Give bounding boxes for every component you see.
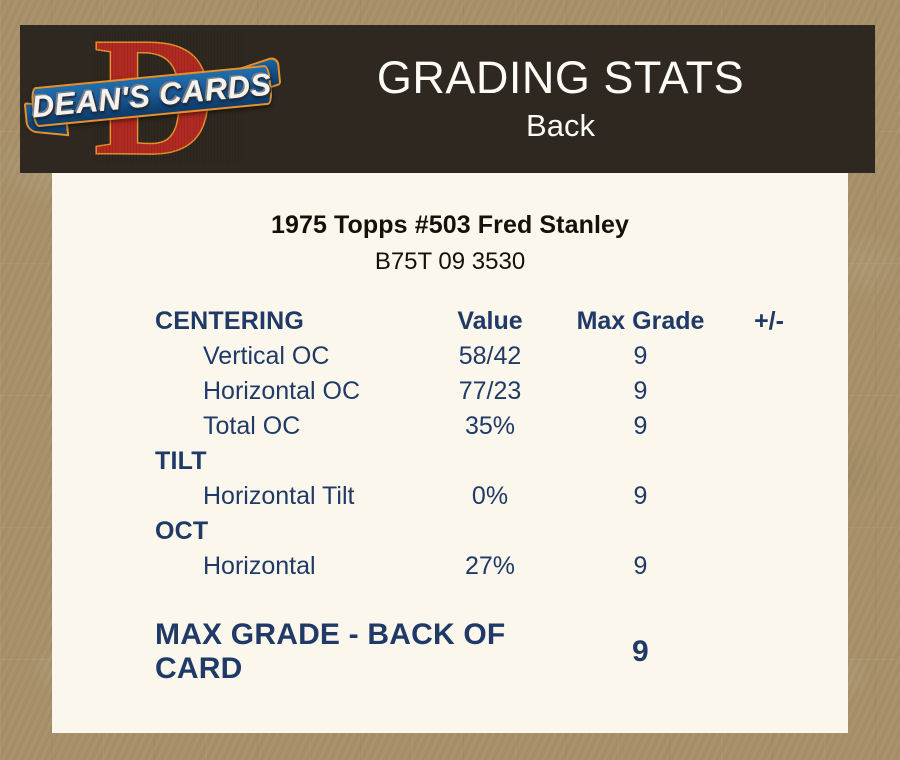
row-max-grade: 9 bbox=[553, 479, 728, 514]
max-grade-row: MAX GRADE - BACK OF CARD 9 bbox=[155, 618, 810, 686]
table-header-row: CENTERING Value Max Grade +/- bbox=[155, 304, 810, 339]
row-value: 0% bbox=[427, 479, 553, 514]
column-header-max-grade: Max Grade bbox=[553, 304, 728, 339]
row-label: Vertical OC bbox=[155, 339, 427, 374]
deans-cards-logo: D DEAN'S CARDS bbox=[20, 25, 282, 173]
table-row: Total OC 35% 9 bbox=[155, 409, 810, 444]
row-max-grade: 9 bbox=[553, 374, 728, 409]
row-delta bbox=[728, 374, 810, 409]
header-bar: D DEAN'S CARDS GRADING STATS Back bbox=[20, 25, 875, 173]
row-max-grade: 9 bbox=[553, 339, 728, 374]
page-subtitle: Back bbox=[282, 106, 839, 146]
row-value: 58/42 bbox=[427, 339, 553, 374]
row-label: Horizontal Tilt bbox=[155, 479, 427, 514]
page-title: GRADING STATS bbox=[282, 52, 839, 104]
row-delta bbox=[728, 479, 810, 514]
column-header-centering: CENTERING bbox=[155, 304, 427, 339]
section-header-tilt: TILT bbox=[155, 444, 810, 479]
table-body: Vertical OC 58/42 9 Horizontal OC 77/23 … bbox=[155, 339, 810, 584]
row-delta bbox=[728, 549, 810, 584]
max-grade-label: MAX GRADE - BACK OF CARD bbox=[155, 618, 553, 686]
table-row: Horizontal OC 77/23 9 bbox=[155, 374, 810, 409]
max-grade-summary: MAX GRADE - BACK OF CARD 9 bbox=[52, 618, 848, 686]
grading-stats-section: CENTERING Value Max Grade +/- Vertical O… bbox=[52, 304, 848, 584]
row-label: Horizontal OC bbox=[155, 374, 427, 409]
row-label: Total OC bbox=[155, 409, 427, 444]
section-label: OCT bbox=[155, 514, 810, 549]
table-row: Vertical OC 58/42 9 bbox=[155, 339, 810, 374]
card-title: 1975 Topps #503 Fred Stanley bbox=[52, 211, 848, 240]
section-label: TILT bbox=[155, 444, 810, 479]
max-grade-value: 9 bbox=[553, 618, 728, 686]
row-max-grade: 9 bbox=[553, 409, 728, 444]
column-header-value: Value bbox=[427, 304, 553, 339]
grading-stats-table: CENTERING Value Max Grade +/- Vertical O… bbox=[155, 304, 810, 584]
card-code: B75T 09 3530 bbox=[52, 248, 848, 276]
column-header-delta: +/- bbox=[728, 304, 810, 339]
section-header-oct: OCT bbox=[155, 514, 810, 549]
row-value: 35% bbox=[427, 409, 553, 444]
row-value: 27% bbox=[427, 549, 553, 584]
row-value: 77/23 bbox=[427, 374, 553, 409]
table-row: Horizontal 27% 9 bbox=[155, 549, 810, 584]
row-delta bbox=[728, 409, 810, 444]
row-max-grade: 9 bbox=[553, 549, 728, 584]
max-grade-delta bbox=[728, 618, 810, 686]
row-delta bbox=[728, 339, 810, 374]
table-row: Horizontal Tilt 0% 9 bbox=[155, 479, 810, 514]
header-titles: GRADING STATS Back bbox=[282, 52, 875, 146]
row-label: Horizontal bbox=[155, 549, 427, 584]
table-header: CENTERING Value Max Grade +/- bbox=[155, 304, 810, 339]
max-grade-table: MAX GRADE - BACK OF CARD 9 bbox=[155, 618, 810, 686]
content-panel: 1975 Topps #503 Fred Stanley B75T 09 353… bbox=[52, 173, 848, 733]
